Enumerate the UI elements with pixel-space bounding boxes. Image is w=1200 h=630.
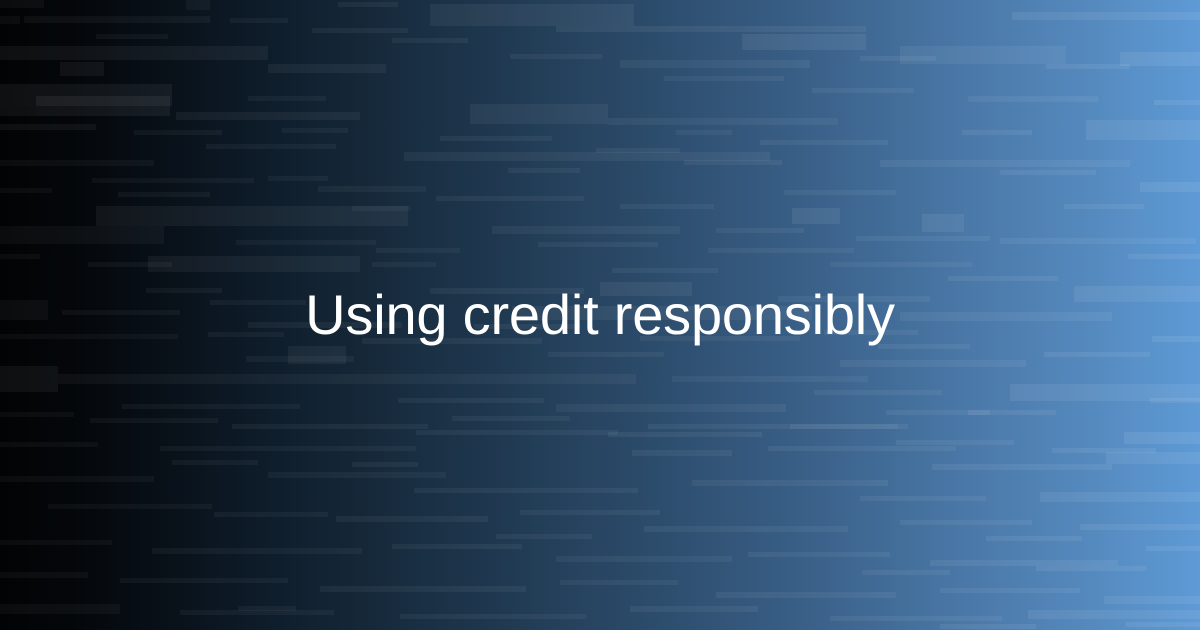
page-title: Using credit responsibly bbox=[305, 284, 895, 346]
title-container: Using credit responsibly bbox=[0, 0, 1200, 630]
social-card: Using credit responsibly bbox=[0, 0, 1200, 630]
